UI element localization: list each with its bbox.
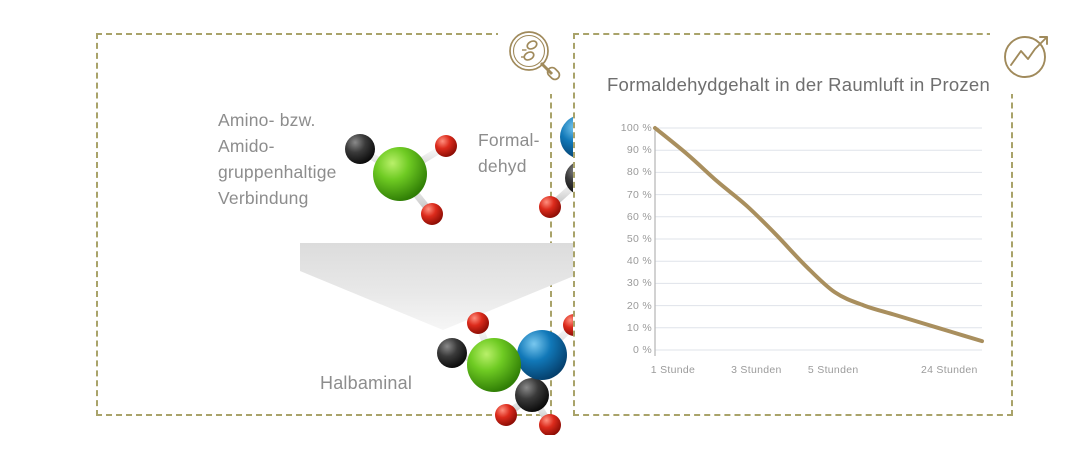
chart-gridlines <box>655 128 982 350</box>
trend-chart-circle-icon <box>990 20 1064 94</box>
magnifier-molecule-icon <box>498 20 572 94</box>
infographic-root: Amino- bzw. Amido- gruppenhaltige Verbin… <box>0 0 1080 462</box>
chart-title: Formaldehydgehalt in der Raumluft in Pro… <box>607 74 995 96</box>
data-series-line <box>655 128 982 341</box>
amino-compound-molecule <box>334 119 466 231</box>
formaldehyde-decay-chart: 100 %90 %80 %70 %60 %50 %40 %30 %20 %10 … <box>600 120 990 385</box>
chart-plot <box>600 120 990 385</box>
left-panel-reaction: Amino- bzw. Amido- gruppenhaltige Verbin… <box>96 33 552 416</box>
